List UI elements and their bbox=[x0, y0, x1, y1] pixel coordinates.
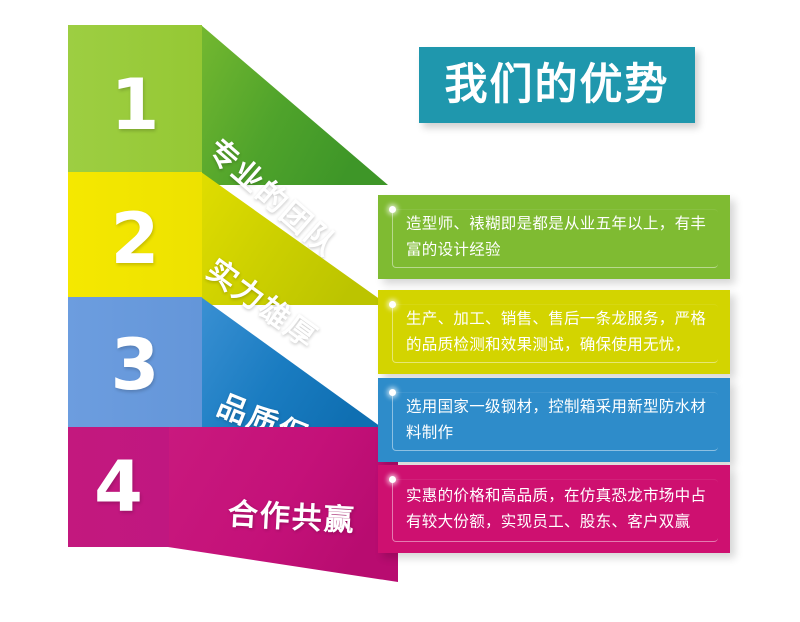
page-title: 我们的优势 bbox=[445, 64, 670, 107]
bullet-dot-icon bbox=[389, 206, 396, 213]
band-1-number: 1 bbox=[111, 70, 160, 140]
band-4-number-face: 4 bbox=[68, 427, 169, 547]
description-block-1-text: 造型师、裱糊即是都是从业五年以上，有丰富的设计经验 bbox=[406, 211, 714, 262]
description-block-4-text: 实惠的价格和高品质，在仿真恐龙市场中占有较大份额，实现员工、股东、客户双赢 bbox=[406, 483, 714, 534]
band-3-number: 3 bbox=[111, 330, 160, 400]
band-1: 1 专业的团队 bbox=[68, 25, 388, 185]
description-block-3-text: 选用国家一级钢材，控制箱采用新型防水材料制作 bbox=[406, 394, 714, 445]
description-block-2-text: 生产、加工、销售、售后一条龙服务，严格的品质检测和效果测试，确保使用无忧， bbox=[406, 306, 714, 357]
band-3: 3 品质保证 bbox=[68, 297, 388, 432]
description-block-3: 选用国家一级钢材，控制箱采用新型防水材料制作 bbox=[378, 378, 730, 462]
band-2-number-face: 2 bbox=[68, 172, 202, 305]
page-title-banner: 我们的优势 bbox=[419, 47, 695, 123]
description-block-1: 造型师、裱糊即是都是从业五年以上，有丰富的设计经验 bbox=[378, 195, 730, 279]
bullet-dot-icon bbox=[389, 389, 396, 396]
band-4: 4 合作共赢 bbox=[68, 427, 398, 582]
description-block-4: 实惠的价格和高品质，在仿真恐龙市场中占有较大份额，实现员工、股东、客户双赢 bbox=[378, 465, 730, 553]
band-3-number-face: 3 bbox=[68, 297, 202, 432]
infographic-canvas: 我们的优势 1 专业的团队 bbox=[0, 0, 800, 622]
band-2-number: 2 bbox=[111, 204, 160, 274]
band-1-number-face: 1 bbox=[68, 25, 202, 185]
bullet-dot-icon bbox=[389, 301, 396, 308]
bullet-dot-icon bbox=[389, 476, 396, 483]
band-4-label: 合作共赢 bbox=[227, 489, 357, 540]
description-block-2: 生产、加工、销售、售后一条龙服务，严格的品质检测和效果测试，确保使用无忧， bbox=[378, 290, 730, 374]
band-4-number: 4 bbox=[94, 452, 143, 522]
band-2: 2 实力雄厚 bbox=[68, 172, 388, 305]
